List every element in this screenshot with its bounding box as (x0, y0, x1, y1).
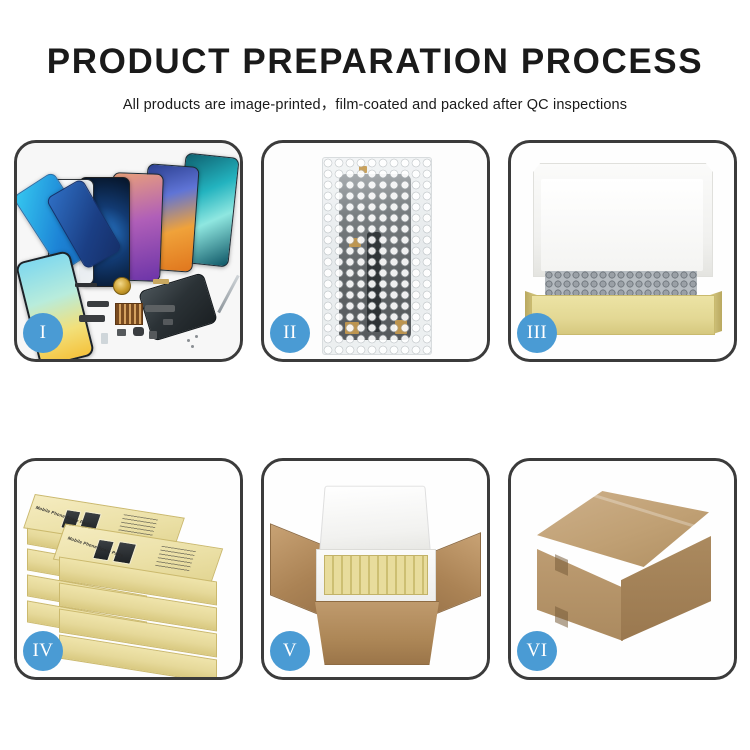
step-5-image: V (264, 461, 487, 677)
step-1-image: I (17, 143, 240, 359)
bubble-texture (323, 158, 431, 354)
step-2-image: II (264, 143, 487, 359)
step-badge-4: IV (23, 631, 63, 671)
flex-cable-part (79, 315, 105, 322)
step-badge-3: III (517, 313, 557, 353)
small-component (101, 333, 108, 344)
step-6-image: VI (511, 461, 734, 677)
carton-body (308, 601, 446, 665)
flex-cable-part (145, 305, 175, 312)
page-header: PRODUCT PREPARATION PROCESS All products… (0, 0, 750, 114)
step-4-image: Mobile Phone Spare Parts Mobile Phone Sp… (17, 461, 240, 677)
flex-cable-part (87, 301, 109, 307)
foam-lid (319, 486, 431, 554)
screw-part (187, 339, 190, 342)
small-component (149, 331, 157, 339)
screw-part (191, 345, 194, 348)
small-component (117, 329, 126, 336)
step-badge-6: VI (517, 631, 557, 671)
process-step-1[interactable]: I (14, 140, 243, 362)
box-text-block (155, 546, 196, 572)
process-grid: I II III (14, 140, 736, 680)
page-title: PRODUCT PREPARATION PROCESS (0, 0, 750, 82)
process-step-5[interactable]: V (261, 458, 490, 680)
small-component (133, 327, 144, 336)
chip-grid-part (115, 303, 143, 325)
process-step-3[interactable]: III (508, 140, 737, 362)
bubble-bag (322, 157, 432, 355)
step-badge-2: II (270, 313, 310, 353)
step-badge-5: V (270, 631, 310, 671)
inner-yellow-boxes (324, 555, 428, 595)
speaker-part (75, 283, 97, 287)
screw-part (195, 335, 198, 338)
process-step-4[interactable]: Mobile Phone Spare Parts Mobile Phone Sp… (14, 458, 243, 680)
step-3-image: III (511, 143, 734, 359)
speaker-part (153, 279, 169, 284)
small-component (163, 319, 173, 325)
process-step-6[interactable]: VI (508, 458, 737, 680)
process-step-2[interactable]: II (261, 140, 490, 362)
page-subtitle: All products are image-printed，film-coat… (0, 82, 750, 114)
foam-sheet (541, 179, 703, 271)
box-front-panel (531, 295, 715, 335)
step-badge-1: I (23, 313, 63, 353)
coil-part (113, 277, 131, 295)
